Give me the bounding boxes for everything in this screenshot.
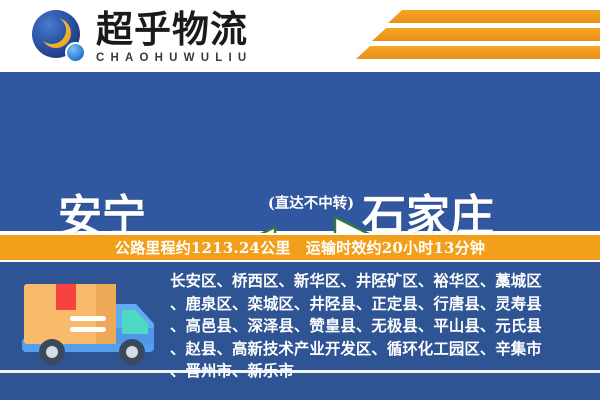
route-info-strip: 公路里程约1213.24公里 运输时效约20小时13分钟	[0, 233, 600, 262]
speed-stripe-3	[356, 46, 600, 59]
speed-stripes-icon	[340, 8, 600, 66]
logo-moon-inner	[38, 16, 66, 44]
coverage-section: 长安区、桥西区、新华区、井陉矿区、裕华区、藁城区 、鹿泉区、栾城区、井陉县、正定…	[0, 262, 600, 400]
brand-block: 超乎物流 CHAOHUWULIU	[96, 8, 276, 64]
district-line: 、高邑县、深泽县、赞皇县、无极县、平山县、元氏县	[170, 315, 594, 338]
direct-service-note: (直达不中转)	[251, 192, 371, 213]
route-banner: 安宁 (直达不中转) 【往返运输】 石家庄	[0, 72, 600, 231]
delivery-truck-icon	[18, 276, 158, 372]
logo-dot	[65, 42, 86, 63]
district-line: 、赵县、高新技术产业开发区、循环化工园区、辛集市	[170, 338, 594, 361]
district-line: 长安区、桥西区、新华区、井陉矿区、裕华区、藁城区	[170, 270, 594, 293]
district-line: 、鹿泉区、栾城区、井陉县、正定县、行唐县、灵寿县	[170, 293, 594, 316]
brand-name-cn: 超乎物流	[96, 8, 276, 50]
district-coverage-list: 长安区、桥西区、新华区、井陉矿区、裕华区、藁城区 、鹿泉区、栾城区、井陉县、正定…	[170, 270, 594, 383]
route-info-text: 公路里程约1213.24公里 运输时效约20小时13分钟	[115, 237, 485, 258]
speed-stripe-1	[388, 10, 600, 23]
circle-moon-logo-icon	[32, 10, 88, 66]
header: 超乎物流 CHAOHUWULIU	[0, 0, 600, 72]
speed-stripe-2	[372, 28, 600, 41]
district-line: 、晋州市、新乐市	[170, 360, 594, 383]
logistics-route-poster: 超乎物流 CHAOHUWULIU 安宁 (直达不中转) 【往返运输】 石家庄 公…	[0, 0, 600, 400]
brand-name-en: CHAOHUWULIU	[96, 52, 276, 64]
